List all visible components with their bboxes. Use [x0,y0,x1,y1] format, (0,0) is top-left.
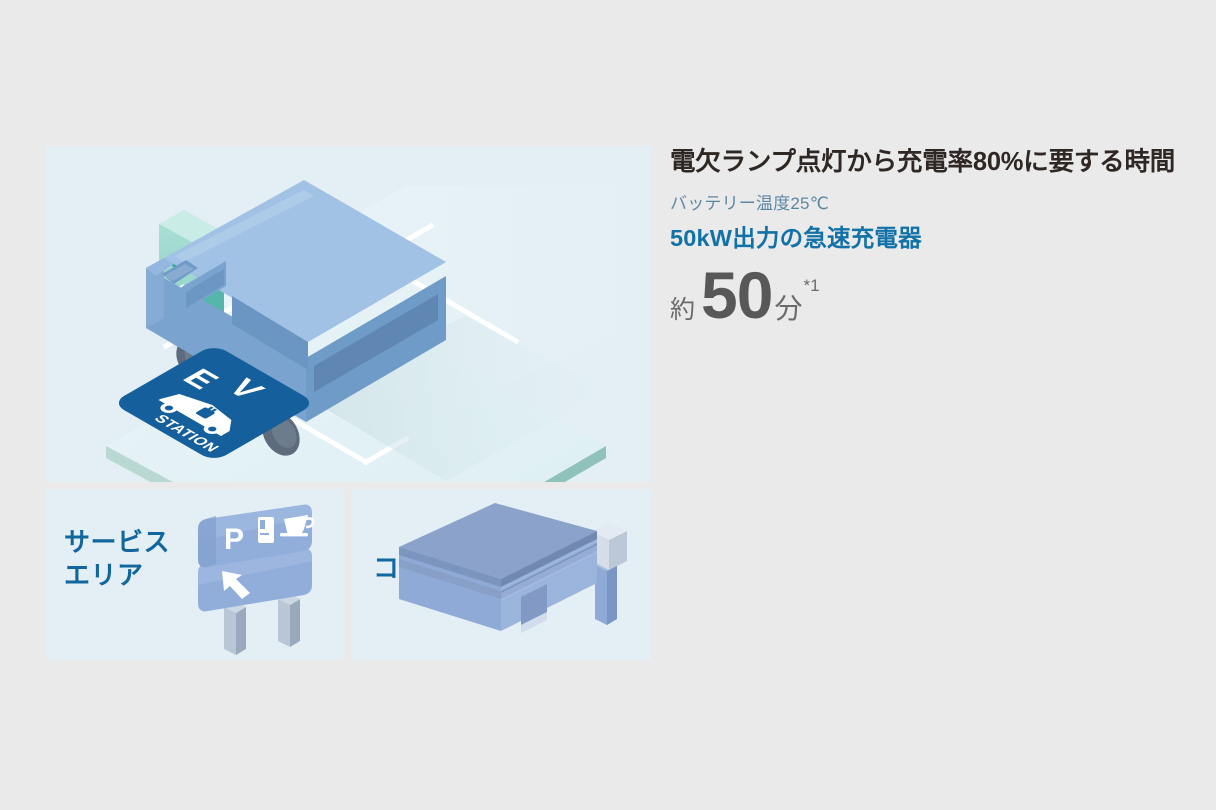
ev-charging-scene-illustration: E V STATION [46,146,651,482]
convenience-store-building-icon [351,489,651,660]
duration-footnote-marker: *1 [803,276,819,296]
duration-unit: 分 [774,287,802,327]
illustration-panel: E V STATION [46,146,651,482]
charging-duration: 約 50 分 *1 [670,264,1190,327]
tile-convenience: コンビニ [351,489,651,660]
duration-approx-prefix: 約 [670,290,695,326]
parking-p-icon: P [224,523,244,556]
page-title: 電欠ランプ点灯から充電率80%に要する時間 [670,146,1190,179]
tile-service-area: サービス エリア [46,489,344,660]
page-root: E V STATION サー [0,0,1216,810]
vending-machine-icon [258,517,274,543]
info-text-column: 電欠ランプ点灯から充電率80%に要する時間 バッテリー温度25℃ 50kW出力の… [670,146,1190,327]
duration-value: 50 [701,264,772,327]
battery-temperature-note: バッテリー温度25℃ [670,193,1190,215]
store-building [399,503,597,633]
charger-spec-label: 50kW出力の急速充電器 [670,223,1190,254]
highway-service-sign-icon: P [46,489,344,660]
